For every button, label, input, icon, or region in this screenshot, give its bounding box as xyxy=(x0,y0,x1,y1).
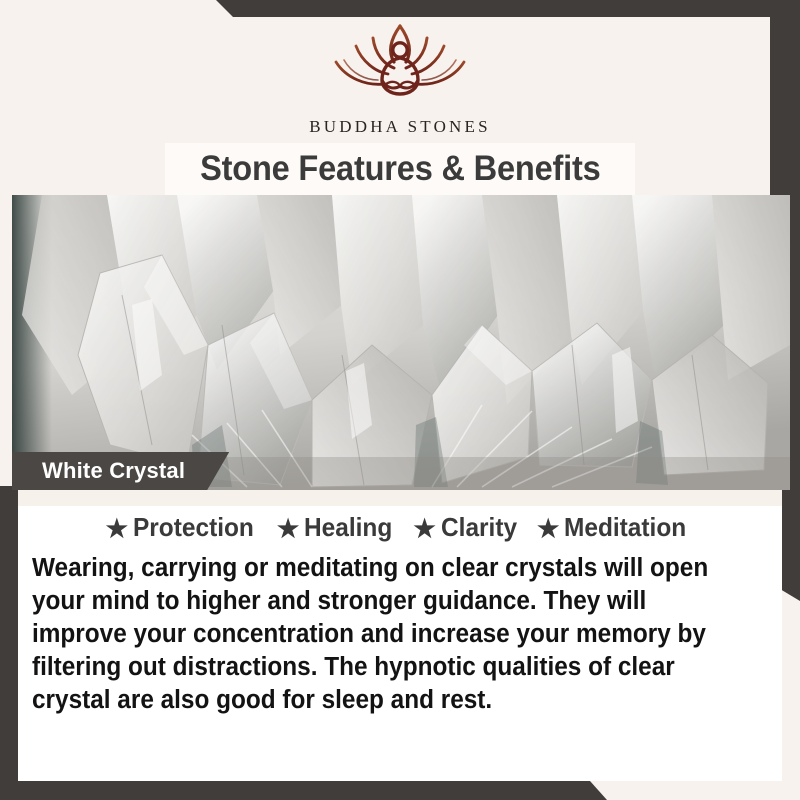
benefit-item-healing: ★Healing xyxy=(277,512,398,544)
star-icon: ★ xyxy=(277,514,299,544)
benefit-label: Meditation xyxy=(564,512,686,543)
stone-name-tag: White Crystal xyxy=(12,452,229,490)
star-icon: ★ xyxy=(537,514,559,544)
benefit-label: Healing xyxy=(304,512,392,543)
title-banner: Stone Features & Benefits xyxy=(165,143,635,195)
page-title: Stone Features & Benefits xyxy=(200,149,601,189)
star-icon: ★ xyxy=(106,514,128,544)
frame-accent-left xyxy=(0,486,18,800)
frame-accent-top xyxy=(0,0,800,17)
brand-logo: BUDDHA STONES xyxy=(0,18,800,137)
crystal-photo xyxy=(12,195,790,490)
benefit-label: Clarity xyxy=(441,512,517,543)
benefit-label: Protection xyxy=(133,512,254,543)
stone-name-label: White Crystal xyxy=(42,458,185,484)
infographic-card: BUDDHA STONES Stone Features & Benefits xyxy=(0,0,800,800)
brand-name: BUDDHA STONES xyxy=(0,117,800,137)
frame-accent-bottom xyxy=(0,781,800,800)
benefit-item-meditation: ★Meditation xyxy=(537,512,694,544)
crystal-photo-illustration xyxy=(12,195,790,490)
panel-top-strip xyxy=(18,490,782,506)
benefit-item-clarity: ★Clarity xyxy=(413,512,521,544)
content-panel: ★Protection ★Healing ★Clarity ★Meditatio… xyxy=(18,490,782,781)
benefit-item-protection: ★Protection xyxy=(106,512,262,544)
benefits-list: ★Protection ★Healing ★Clarity ★Meditatio… xyxy=(18,512,782,544)
star-icon: ★ xyxy=(413,514,435,544)
description-text: Wearing, carrying or meditating on clear… xyxy=(32,552,741,717)
lotus-meditation-figure-icon xyxy=(320,18,480,114)
